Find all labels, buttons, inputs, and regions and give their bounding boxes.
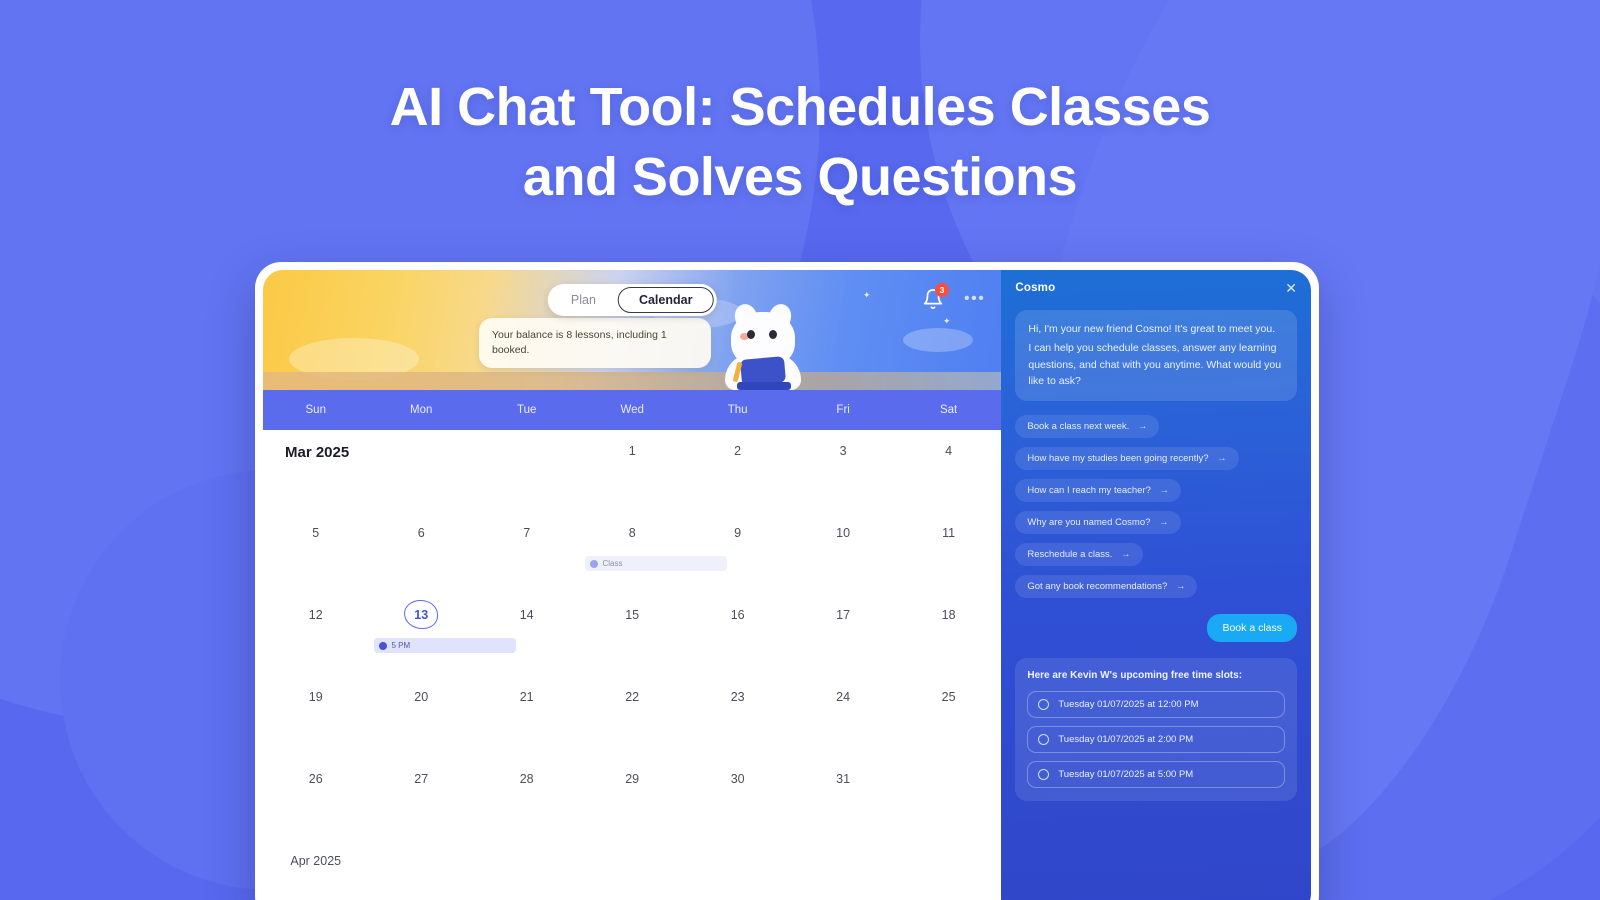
calendar-cell[interactable] [368,430,473,512]
calendar-week-row: 12 13 5 PM 14 15 16 17 18 [263,594,1001,676]
next-month-label: Apr 2025 [263,854,368,868]
bot-greeting-line-2: I can help you schedule classes, answer … [1028,340,1284,390]
day-number: 24 [790,690,895,704]
arrow-right-icon: → [1138,421,1148,432]
calendar-cell[interactable]: 24 [790,676,895,758]
calendar-cell[interactable]: 30 [685,758,790,840]
cloud-icon [903,328,973,352]
page-title: AI Chat Tool: Schedules Classes and Solv… [0,72,1600,212]
calendar-cell[interactable]: 3 [790,430,895,512]
page-title-line-1: AI Chat Tool: Schedules Classes [390,77,1211,137]
day-number: 29 [579,772,684,786]
calendar-cell[interactable]: Apr 2025 [263,840,368,900]
event-dot-icon [379,642,387,650]
chip-label: Reschedule a class. [1027,549,1112,560]
weekday-fri: Fri [790,404,895,416]
user-message-bubble: Book a class [1207,614,1297,642]
calendar-cell[interactable]: 15 [579,594,684,676]
weekday-thu: Thu [685,404,790,416]
day-number: 15 [579,608,684,622]
arrow-right-icon: → [1121,549,1131,560]
calendar-cell[interactable] [896,840,1001,900]
app-hero-banner: ✦ ✦ Plan Calendar Your balance is 8 less… [263,270,1001,390]
chip-label: Got any book recommendations? [1027,581,1167,592]
day-number: 12 [263,608,368,622]
calendar-cell[interactable] [896,758,1001,840]
calendar-cell[interactable]: 1 [579,430,684,512]
time-slot-label: Tuesday 01/07/2025 at 12:00 PM [1058,699,1198,710]
day-number: 17 [790,608,895,622]
suggestion-chip-list: Book a class next week. → How have my st… [1015,415,1297,598]
day-number: 31 [790,772,895,786]
chip-label: How have my studies been going recently? [1027,453,1208,464]
calendar-week-row-next-month: Apr 2025 [263,840,1001,900]
notification-badge: 3 [935,283,949,297]
weekday-sun: Sun [263,404,368,416]
time-slots-card: Here are Kevin W's upcoming free time sl… [1015,658,1297,801]
time-slot-option[interactable]: Tuesday 01/07/2025 at 12:00 PM [1027,691,1285,718]
today-highlight-ring [404,600,438,629]
calendar-cell[interactable] [368,840,473,900]
mascot-eye-right [769,330,777,339]
calendar-cell[interactable]: 7 [474,512,579,594]
calendar-cell[interactable] [790,840,895,900]
weekday-sat: Sat [896,404,1001,416]
cosmo-mascot-icon [715,300,811,390]
arrow-right-icon: → [1176,581,1186,592]
tab-calendar[interactable]: Calendar [618,287,714,313]
calendar-cell[interactable]: 19 [263,676,368,758]
bot-message-bubble: Hi, I'm your new friend Cosmo! It's grea… [1015,310,1297,401]
event-label: Class [602,559,622,568]
cosmo-chat-panel: Cosmo ✕ Hi, I'm your new friend Cosmo! I… [1001,270,1311,900]
view-switcher[interactable]: Plan Calendar [548,284,717,316]
chip-label: Why are you named Cosmo? [1027,517,1150,528]
day-number: 27 [368,772,473,786]
day-number: 8 [579,526,684,540]
calendar-cell[interactable] [474,840,579,900]
calendar-cell[interactable]: 21 [474,676,579,758]
radio-icon[interactable] [1038,769,1049,780]
day-number: 14 [474,608,579,622]
day-number: 3 [790,444,895,458]
tablet-frame: ✦ ✦ Plan Calendar Your balance is 8 less… [255,262,1319,900]
calendar-cell[interactable]: 6 [368,512,473,594]
day-number: 30 [685,772,790,786]
bot-greeting-line-1: Hi, I'm your new friend Cosmo! It's grea… [1028,321,1284,338]
day-number: 20 [368,690,473,704]
calendar-app: ✦ ✦ Plan Calendar Your balance is 8 less… [263,270,1001,900]
day-number: 9 [685,526,790,540]
calendar-cell[interactable]: 28 [474,758,579,840]
day-number: 6 [368,526,473,540]
time-slot-label: Tuesday 01/07/2025 at 2:00 PM [1058,734,1193,745]
calendar-cell[interactable]: 12 [263,594,368,676]
chip-label: How can I reach my teacher? [1027,485,1151,496]
balance-speech-bubble: Your balance is 8 lessons, including 1 b… [479,318,711,368]
day-number: 23 [685,690,790,704]
arrow-right-icon: → [1217,453,1227,464]
suggestion-chip-reach-teacher[interactable]: How can I reach my teacher? → [1015,479,1181,502]
month-label: Mar 2025 [285,444,349,461]
calendar-cell[interactable]: 18 [896,594,1001,676]
day-number: 28 [474,772,579,786]
calendar-cell[interactable] [474,430,579,512]
calendar-week-row: 5 6 7 8 Class 9 10 11 [263,512,1001,594]
app-toolbar: 3 ••• [922,288,985,310]
weekday-tue: Tue [474,404,579,416]
time-slot-label: Tuesday 01/07/2025 at 5:00 PM [1058,769,1193,780]
day-number: 25 [896,690,1001,704]
arrow-right-icon: → [1160,485,1170,496]
calendar-cell[interactable] [685,840,790,900]
hero-floor [263,372,1001,390]
radio-icon[interactable] [1038,699,1049,710]
day-number: 19 [263,690,368,704]
suggestion-chip-book-class[interactable]: Book a class next week. → [1015,415,1159,438]
mascot-book-icon [737,382,791,390]
calendar-cell[interactable]: 16 [685,594,790,676]
day-number: 2 [685,444,790,458]
calendar-cell[interactable]: 31 [790,758,895,840]
suggestion-chip-book-recommendations[interactable]: Got any book recommendations? → [1015,575,1197,598]
time-slot-option[interactable]: Tuesday 01/07/2025 at 2:00 PM [1027,726,1285,753]
time-slot-option[interactable]: Tuesday 01/07/2025 at 5:00 PM [1027,761,1285,788]
chip-label: Book a class next week. [1027,421,1129,432]
mascot-eye-left [747,330,755,339]
calendar-cell[interactable] [263,430,368,512]
calendar-cell[interactable]: 4 [896,430,1001,512]
bell-icon[interactable]: 3 [922,288,944,310]
chat-title: Cosmo [1015,282,1055,294]
calendar-cell[interactable]: 17 [790,594,895,676]
calendar-cell[interactable] [579,840,684,900]
calendar-cell[interactable]: 11 [896,512,1001,594]
event-label: 5 PM [391,641,410,650]
day-number: 11 [896,526,1001,540]
star-icon: ✦ [943,316,951,327]
calendar-cell-today[interactable]: 13 5 PM [368,594,473,676]
page-title-line-2: and Solves Questions [0,142,1600,212]
day-number: 26 [263,772,368,786]
star-icon: ✦ [863,290,871,301]
day-number: 1 [579,444,684,458]
calendar-cell[interactable]: 5 [263,512,368,594]
calendar-cell[interactable]: 8 Class [579,512,684,594]
tab-plan[interactable]: Plan [551,287,616,313]
calendar-cell[interactable]: 20 [368,676,473,758]
suggestion-chip-name-origin[interactable]: Why are you named Cosmo? → [1015,511,1180,534]
calendar-cell[interactable]: 9 [685,512,790,594]
calendar-cell[interactable]: 14 [474,594,579,676]
calendar-cell[interactable]: 23 [685,676,790,758]
calendar-cell[interactable]: 22 [579,676,684,758]
more-menu-icon[interactable]: ••• [964,290,985,308]
day-number: 22 [579,690,684,704]
day-number: 21 [474,690,579,704]
day-number: 18 [896,608,1001,622]
weekday-header: Sun Mon Tue Wed Thu Fri Sat [263,390,1001,430]
suggestion-chip-studies-progress[interactable]: How have my studies been going recently?… [1015,447,1238,470]
day-number: 4 [896,444,1001,458]
weekday-wed: Wed [579,404,684,416]
day-number: 10 [790,526,895,540]
calendar-week-row: 1 2 3 4 [263,430,1001,512]
day-number: 7 [474,526,579,540]
calendar-cell[interactable]: 27 [368,758,473,840]
event-dot-icon [590,560,598,568]
user-message-row: Book a class [1015,614,1297,642]
time-slots-title: Here are Kevin W's upcoming free time sl… [1027,670,1285,681]
chat-header: Cosmo ✕ [1001,270,1311,306]
calendar-week-row: 26 27 28 29 30 31 [263,758,1001,840]
day-number: 16 [685,608,790,622]
calendar-grid[interactable]: Mar 2025 1 2 3 4 5 6 7 8 [263,430,1001,900]
close-icon[interactable]: ✕ [1285,281,1297,295]
arrow-right-icon: → [1159,517,1169,528]
calendar-cell[interactable]: 25 [896,676,1001,758]
calendar-week-row: 19 20 21 22 23 24 25 [263,676,1001,758]
weekday-mon: Mon [368,404,473,416]
tablet-screen: ✦ ✦ Plan Calendar Your balance is 8 less… [263,270,1311,900]
chat-message-list[interactable]: Hi, I'm your new friend Cosmo! It's grea… [1001,306,1311,900]
day-number: 5 [263,526,368,540]
suggestion-chip-reschedule[interactable]: Reschedule a class. → [1015,543,1142,566]
calendar-cell[interactable]: 10 [790,512,895,594]
radio-icon[interactable] [1038,734,1049,745]
calendar-cell[interactable]: 29 [579,758,684,840]
calendar-cell[interactable]: 26 [263,758,368,840]
calendar-cell[interactable]: 2 [685,430,790,512]
